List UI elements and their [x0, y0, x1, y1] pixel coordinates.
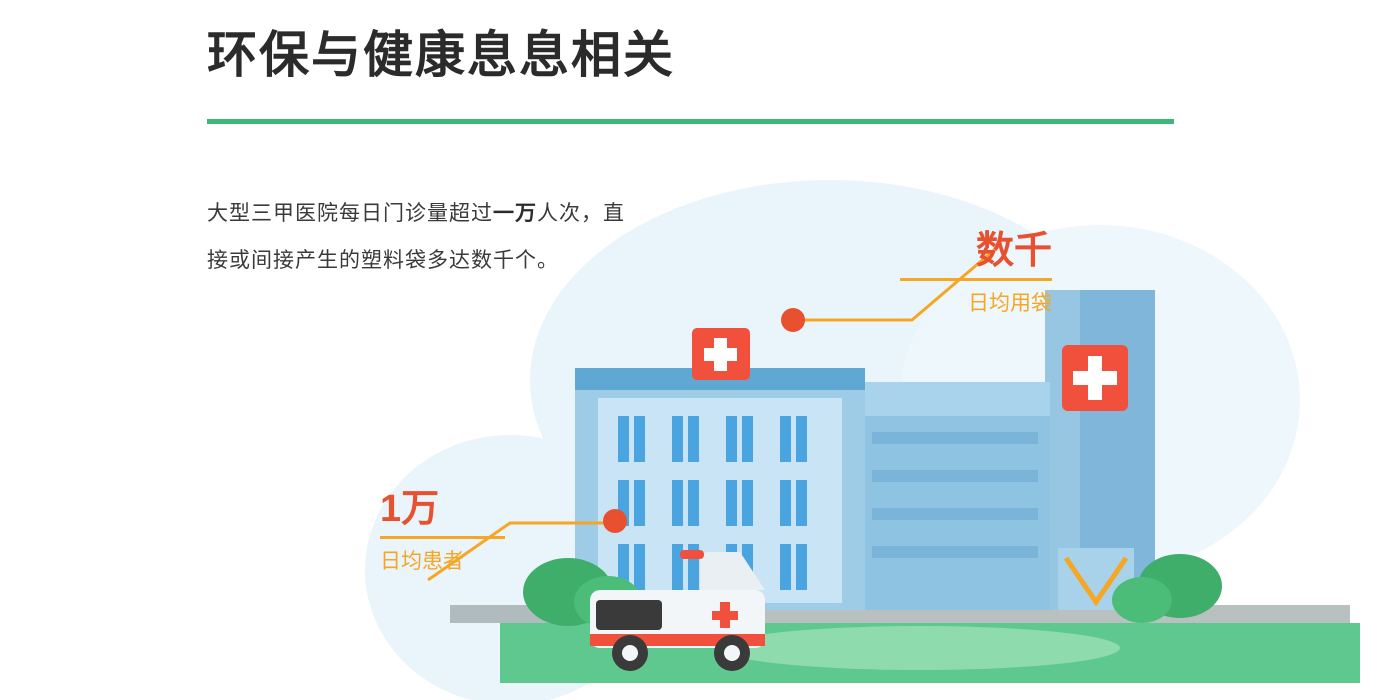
slide-canvas: 环保与健康息息相关 大型三甲医院每日门诊量超过一万人次，直接或间接产生的塑料袋多…	[0, 0, 1400, 700]
page-title: 环保与健康息息相关	[207, 28, 675, 83]
tower-cross-horizontal	[1073, 371, 1117, 385]
callout-bags-rule	[900, 278, 1052, 281]
mid-block	[860, 382, 1050, 610]
hospital-illustration	[300, 150, 1400, 700]
callout-patients: 1万 日均患者	[380, 490, 505, 575]
callout-patients-rule	[380, 536, 505, 539]
ambulance-light	[680, 550, 704, 559]
callout-dot-patients	[603, 509, 627, 533]
callout-bags-value: 数千	[900, 232, 1052, 270]
callout-bags: 数千 日均用袋	[900, 232, 1052, 317]
roof-cross-horizontal	[704, 348, 737, 361]
tree-right-small	[1112, 577, 1172, 623]
callout-patients-value: 1万	[380, 490, 505, 528]
title-underline	[207, 119, 1174, 124]
mid-block-top	[860, 382, 1050, 416]
ambulance-window	[596, 600, 662, 630]
grass-highlight	[720, 626, 1120, 670]
callout-patients-label: 日均患者	[380, 545, 505, 575]
callout-bags-label: 日均用袋	[900, 287, 1052, 317]
callout-dot-bags	[781, 308, 805, 332]
